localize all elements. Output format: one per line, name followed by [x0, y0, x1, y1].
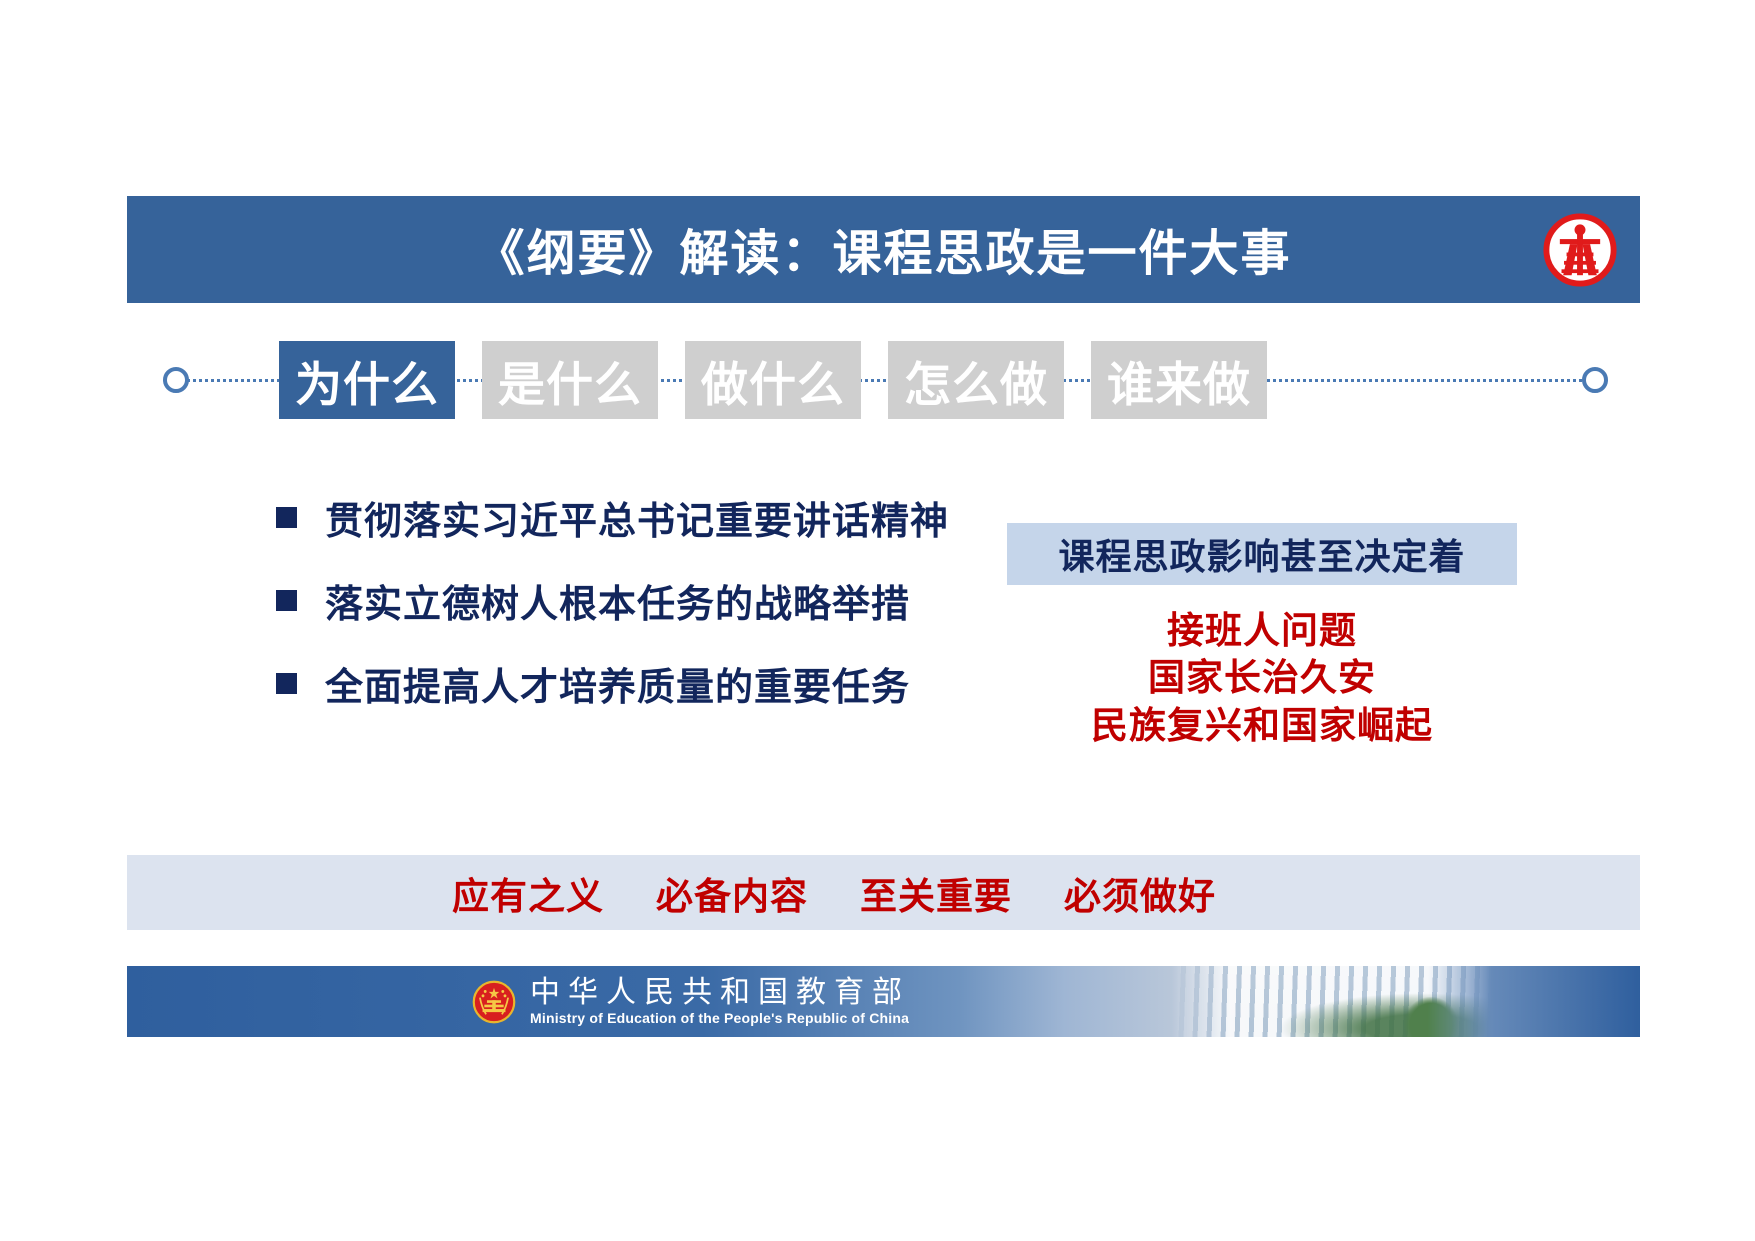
circle-node-icon — [1582, 367, 1608, 393]
tab-do-what[interactable]: 做什么 — [685, 341, 861, 419]
square-bullet-icon — [276, 507, 297, 528]
list-item: 贯彻落实习近平总书记重要讲话精神 — [276, 490, 976, 545]
tab-why[interactable]: 为什么 — [279, 341, 455, 419]
slide-canvas: 《纲要》解读：课程思政是一件大事 为什么 是什么 — [0, 0, 1755, 1241]
square-bullet-icon — [276, 673, 297, 694]
tab-who[interactable]: 谁来做 — [1091, 341, 1267, 419]
footer-name-cn: 中华人民共和国教育部 — [530, 977, 910, 1009]
step-nav: 为什么 是什么 做什么 怎么做 谁来做 — [127, 330, 1640, 430]
key-values-banner: 应有之义 必备内容 至关重要 必须做好 — [127, 855, 1640, 930]
page-title: 《纲要》解读：课程思政是一件大事 — [475, 214, 1291, 285]
tab-label: 为什么 — [295, 346, 439, 415]
callout-banner: 课程思政影响甚至决定着 — [1007, 523, 1517, 585]
key-value-item: 必须做好 — [1064, 866, 1216, 920]
bullet-text: 贯彻落实习近平总书记重要讲话精神 — [325, 490, 949, 545]
tab-how[interactable]: 怎么做 — [888, 341, 1064, 419]
footer-brand: 中华人民共和国教育部 Ministry of Education of the … — [472, 966, 910, 1037]
list-item: 落实立德树人根本任务的战略举措 — [276, 573, 976, 628]
footer-banner: 中华人民共和国教育部 Ministry of Education of the … — [127, 966, 1640, 1037]
tab-label: 是什么 — [498, 346, 642, 415]
circle-node-icon — [163, 367, 189, 393]
key-value-item: 必备内容 — [656, 866, 808, 920]
tab-label: 谁来做 — [1107, 346, 1251, 415]
callout-panel: 课程思政影响甚至决定着 接班人问题 国家长治久安 民族复兴和国家崛起 — [1007, 523, 1517, 749]
footer-names: 中华人民共和国教育部 Ministry of Education of the … — [530, 977, 910, 1026]
list-item: 全面提高人才培养质量的重要任务 — [276, 656, 976, 711]
step-nav-items: 为什么 是什么 做什么 怎么做 谁来做 — [279, 330, 1267, 430]
key-value-item: 应有之义 — [452, 866, 604, 920]
callout-lines: 接班人问题 国家长治久安 民族复兴和国家崛起 — [1007, 607, 1517, 749]
callout-line: 民族复兴和国家崛起 — [1007, 702, 1517, 749]
bullet-text: 全面提高人才培养质量的重要任务 — [325, 656, 910, 711]
tab-label: 做什么 — [701, 346, 845, 415]
bullet-list: 贯彻落实习近平总书记重要讲话精神 落实立德树人根本任务的战略举措 全面提高人才培… — [276, 490, 976, 739]
footer-name-en: Ministry of Education of the People's Re… — [530, 1011, 910, 1026]
callout-line: 接班人问题 — [1007, 607, 1517, 654]
slide-title-bar: 《纲要》解读：课程思政是一件大事 — [127, 196, 1640, 303]
callout-line: 国家长治久安 — [1007, 654, 1517, 701]
callout-banner-text: 课程思政影响甚至决定着 — [1058, 528, 1465, 580]
bullet-text: 落实立德树人根本任务的战略举措 — [325, 573, 910, 628]
tab-label: 怎么做 — [904, 346, 1048, 415]
ministry-building-photo — [1172, 966, 1492, 1037]
square-bullet-icon — [276, 590, 297, 611]
key-value-item: 至关重要 — [860, 866, 1012, 920]
tab-what[interactable]: 是什么 — [482, 341, 658, 419]
china-national-emblem-icon — [472, 980, 516, 1024]
red-circular-tower-emblem-icon — [1538, 208, 1622, 292]
